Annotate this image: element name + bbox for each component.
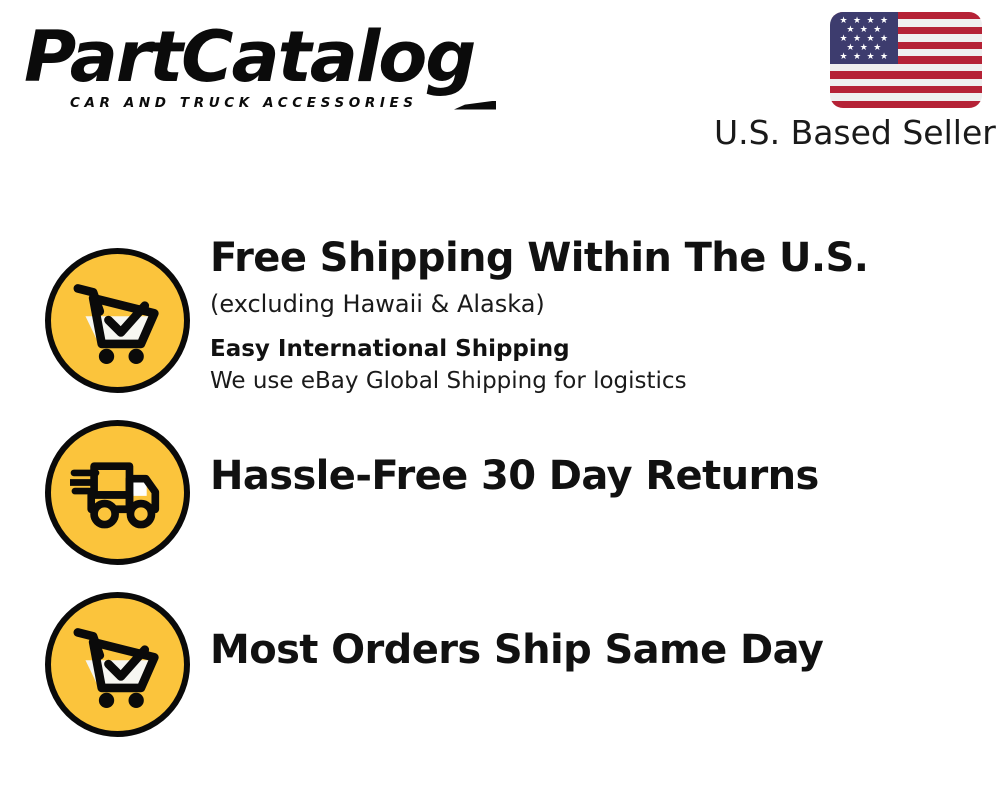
feature-text-column: Hassle-Free 30 Day Returns bbox=[210, 420, 1000, 500]
feature-title: Most Orders Ship Same Day bbox=[210, 626, 1000, 674]
feature-row: Most Orders Ship Same Day bbox=[0, 592, 1000, 752]
brand-wordmark: PartCatalog bbox=[24, 24, 503, 91]
brand-logo[interactable]: PartCatalog CAR AND TRUCK ACCESSORIES bbox=[24, 24, 494, 111]
us-based-seller-badge: ★★★★ ★★★ ★★★★ ★★★ ★★★★ U.S. Based Seller bbox=[714, 12, 984, 153]
feature-subtitle-strong: Easy International Shipping bbox=[210, 334, 1000, 364]
feature-row: Free Shipping Within The U.S. (excluding… bbox=[0, 248, 1000, 420]
brand-tagline: CAR AND TRUCK ACCESSORIES bbox=[70, 95, 494, 111]
feature-text-column: Free Shipping Within The U.S. (excluding… bbox=[210, 248, 1000, 397]
us-flag-icon: ★★★★ ★★★ ★★★★ ★★★ ★★★★ bbox=[830, 12, 982, 108]
us-based-seller-label: U.S. Based Seller bbox=[714, 113, 984, 153]
delivery-truck-icon bbox=[45, 420, 190, 565]
shopping-cart-check-icon bbox=[45, 592, 190, 737]
promo-banner: PartCatalog CAR AND TRUCK ACCESSORIES bbox=[0, 0, 1000, 800]
feature-title: Hassle-Free 30 Day Returns bbox=[210, 452, 1000, 500]
feature-note: (excluding Hawaii & Alaska) bbox=[210, 288, 1000, 320]
banner-header: PartCatalog CAR AND TRUCK ACCESSORIES bbox=[0, 0, 1000, 180]
shopping-cart-check-icon bbox=[45, 248, 190, 393]
feature-list: Free Shipping Within The U.S. (excluding… bbox=[0, 248, 1000, 752]
flag-canton: ★★★★ ★★★ ★★★★ ★★★ ★★★★ bbox=[830, 12, 898, 64]
feature-subtitle-note: We use eBay Global Shipping for logistic… bbox=[210, 366, 1000, 397]
feature-text-column: Most Orders Ship Same Day bbox=[210, 592, 1000, 674]
feature-title: Free Shipping Within The U.S. bbox=[210, 234, 1000, 282]
feature-row: Hassle-Free 30 Day Returns bbox=[0, 420, 1000, 592]
